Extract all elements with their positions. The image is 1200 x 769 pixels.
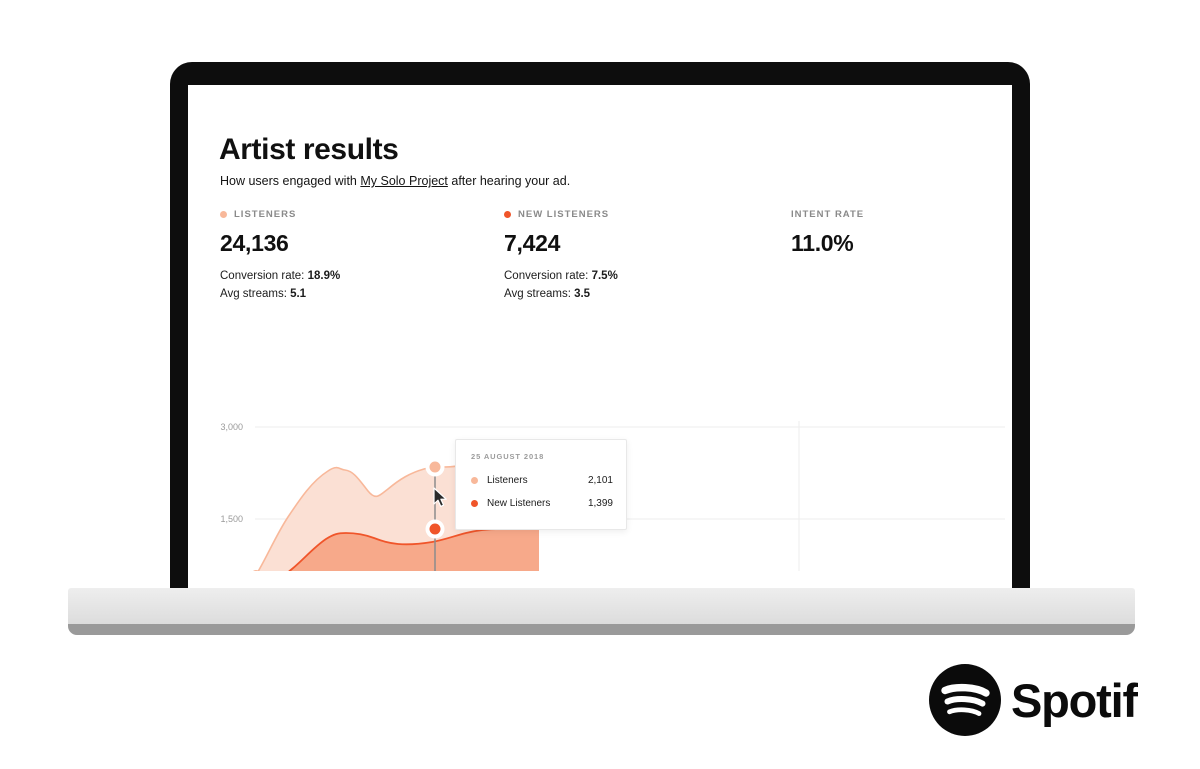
stat-intent-rate-label-text: INTENT RATE <box>791 209 864 220</box>
spotify-logo-svg: Spotify <box>928 663 1138 737</box>
streams-value: 5.1 <box>290 288 306 300</box>
stat-new-listeners-value: 7,424 <box>504 230 618 257</box>
stat-new-listeners: NEW LISTENERS 7,424 Conversion rate: 7.5… <box>504 209 618 304</box>
tooltip-listeners-name: Listeners <box>487 475 588 486</box>
conversion-value: 7.5% <box>592 270 618 282</box>
tooltip-new-listeners-name: New Listeners <box>487 498 588 509</box>
page-title: Artist results <box>219 133 398 167</box>
laptop-base <box>68 588 1135 625</box>
stat-intent-rate: INTENT RATE 11.0% <box>791 209 864 257</box>
tooltip-new-listeners-value: 1,399 <box>588 498 613 509</box>
listeners-dot-icon <box>220 211 227 218</box>
stats-row: LISTENERS 24,136 Conversion rate: 18.9% … <box>220 209 980 299</box>
tooltip-listeners-value: 2,101 <box>588 475 613 486</box>
subtitle-text-before: How users engaged with <box>220 174 360 188</box>
stat-new-listeners-label-text: NEW LISTENERS <box>518 209 609 220</box>
conversion-label: Conversion rate: <box>504 270 592 282</box>
subtitle-text-after: after hearing your ad. <box>448 174 570 188</box>
stat-listeners-streams: Avg streams: 5.1 <box>220 286 340 304</box>
streams-label: Avg streams: <box>504 288 574 300</box>
streams-label: Avg streams: <box>220 288 290 300</box>
tooltip-row-listeners: Listeners 2,101 <box>471 473 613 487</box>
streams-value: 3.5 <box>574 288 590 300</box>
new-listeners-hover-marker[interactable] <box>430 524 441 535</box>
stat-listeners-label-text: LISTENERS <box>234 209 296 220</box>
stat-listeners: LISTENERS 24,136 Conversion rate: 18.9% … <box>220 209 340 304</box>
stat-new-listeners-details: Conversion rate: 7.5% Avg streams: 3.5 <box>504 268 618 304</box>
laptop-foot <box>68 624 1135 635</box>
page-subtitle: How users engaged with My Solo Project a… <box>220 174 570 188</box>
tooltip-listeners-dot-icon <box>471 477 478 484</box>
stat-new-listeners-streams: Avg streams: 3.5 <box>504 286 618 304</box>
stat-intent-rate-value: 11.0% <box>791 230 864 257</box>
tooltip-row-new-listeners: New Listeners 1,399 <box>471 496 613 510</box>
stat-new-listeners-label: NEW LISTENERS <box>504 209 618 220</box>
chart-tooltip: 25 AUGUST 2018 Listeners 2,101 New Liste… <box>455 439 627 530</box>
conversion-value: 18.9% <box>308 270 341 282</box>
stat-listeners-value: 24,136 <box>220 230 340 257</box>
spotify-registered-mark: ® <box>1126 688 1133 698</box>
stat-intent-rate-label: INTENT RATE <box>791 209 864 220</box>
listeners-hover-marker[interactable] <box>430 462 441 473</box>
stat-listeners-conversion: Conversion rate: 18.9% <box>220 268 340 286</box>
spotify-mark-icon <box>929 664 1001 736</box>
stat-listeners-label: LISTENERS <box>220 209 340 220</box>
stat-listeners-details: Conversion rate: 18.9% Avg streams: 5.1 <box>220 268 340 304</box>
artist-link[interactable]: My Solo Project <box>360 174 448 188</box>
mouse-cursor-icon <box>433 487 449 509</box>
stat-new-listeners-conversion: Conversion rate: 7.5% <box>504 268 618 286</box>
tooltip-date: 25 AUGUST 2018 <box>471 452 544 461</box>
spotify-logo: Spotify <box>928 663 1138 742</box>
screenshot-stage: Artist results How users engaged with My… <box>0 0 1200 769</box>
new-listeners-dot-icon <box>504 211 511 218</box>
conversion-label: Conversion rate: <box>220 270 308 282</box>
tooltip-new-listeners-dot-icon <box>471 500 478 507</box>
spotify-wordmark: Spotify <box>1011 674 1138 727</box>
